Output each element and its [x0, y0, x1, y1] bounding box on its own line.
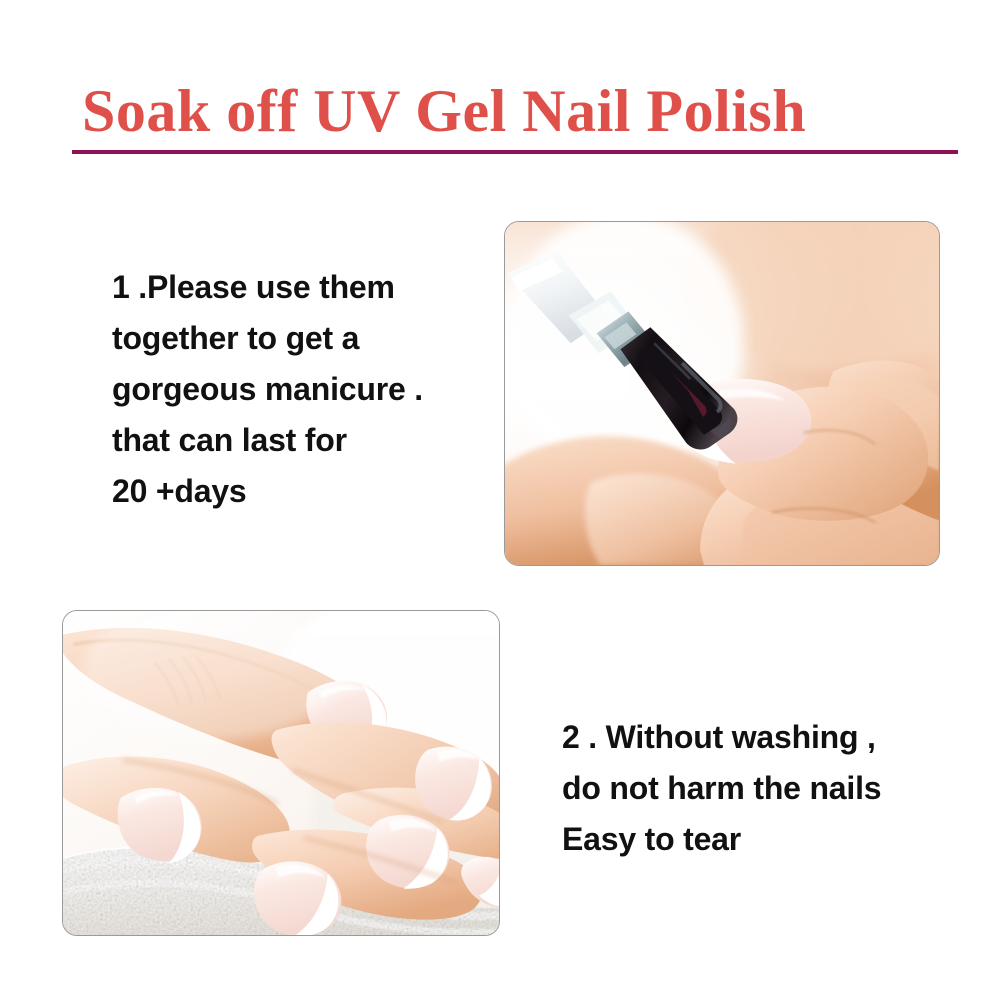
photo-finished-manicure: [62, 610, 500, 936]
feature-2-line-3: Easy to tear: [562, 814, 881, 865]
feature-1-line-1: 1 .Please use them: [112, 262, 423, 313]
page-title: Soak off UV Gel Nail Polish: [72, 78, 958, 144]
photo-gel-application: [504, 221, 940, 566]
feature-1-line-5: 20 +days: [112, 466, 423, 517]
feature-1-line-3: gorgeous manicure .: [112, 364, 423, 415]
title-divider: [72, 150, 958, 154]
finished-manicure-illustration: [63, 611, 499, 935]
feature-1-text: 1 .Please use them together to get a gor…: [112, 262, 423, 517]
gel-application-illustration: [505, 222, 939, 565]
feature-1-line-2: together to get a: [112, 313, 423, 364]
feature-2-text: 2 . Without washing , do not harm the na…: [562, 712, 881, 865]
feature-2-line-2: do not harm the nails: [562, 763, 881, 814]
header: Soak off UV Gel Nail Polish: [72, 78, 958, 154]
feature-1-line-4: that can last for: [112, 415, 423, 466]
product-infographic: Soak off UV Gel Nail Polish 1 .Please us…: [0, 0, 1002, 1002]
feature-2-line-1: 2 . Without washing ,: [562, 712, 881, 763]
